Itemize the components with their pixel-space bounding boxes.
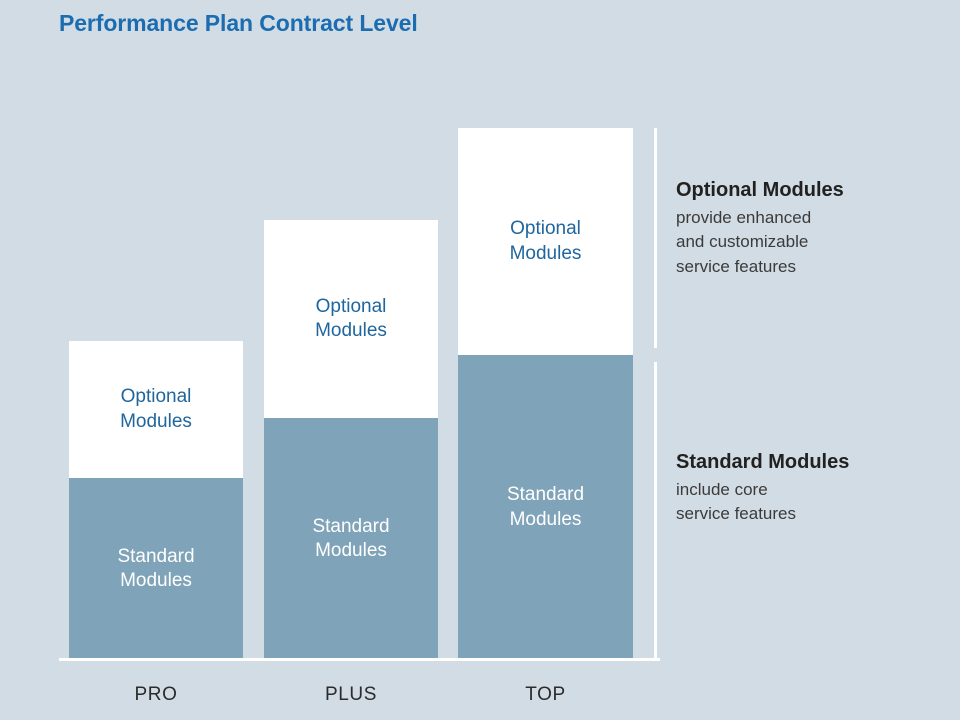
bar-group-pro[interactable]: Optional Modules Standard Modules [69,341,243,660]
bar-segment-label: Optional Modules [309,295,393,344]
bar-segment-standard-pro[interactable]: Standard Modules [69,478,243,660]
axis-baseline [59,658,660,661]
bar-segment-standard-top[interactable]: Standard Modules [458,355,633,660]
category-label-top: TOP [458,684,633,706]
stacked-bar-chart: Optional Modules Standard Modules Option… [0,0,960,720]
bar-segment-standard-plus[interactable]: Standard Modules [264,418,438,660]
bar-segment-label: Optional Modules [504,217,588,266]
slide-canvas: Performance Plan Contract Level Optional… [0,0,960,720]
legend-optional-modules: Optional Modules provide enhanced and cu… [676,178,948,279]
legend-body: include core service features [676,478,948,527]
bar-segment-label: Optional Modules [114,385,198,434]
bar-segment-optional-top[interactable]: Optional Modules [458,128,633,355]
bracket-optional-modules [654,128,657,348]
legend-heading: Standard Modules [676,450,948,474]
bar-segment-label: Standard Modules [501,483,590,532]
legend-body: provide enhanced and customizable servic… [676,206,948,279]
bar-segment-label: Standard Modules [306,515,395,564]
bracket-standard-modules [654,362,657,660]
bar-group-plus[interactable]: Optional Modules Standard Modules [264,220,438,660]
bar-segment-optional-plus[interactable]: Optional Modules [264,220,438,418]
legend-standard-modules: Standard Modules include core service fe… [676,450,948,527]
bar-group-top[interactable]: Optional Modules Standard Modules [458,128,633,660]
legend-heading: Optional Modules [676,178,948,202]
category-label-pro: PRO [69,684,243,706]
category-label-plus: PLUS [264,684,438,706]
bar-segment-label: Standard Modules [111,545,200,594]
bar-segment-optional-pro[interactable]: Optional Modules [69,341,243,478]
